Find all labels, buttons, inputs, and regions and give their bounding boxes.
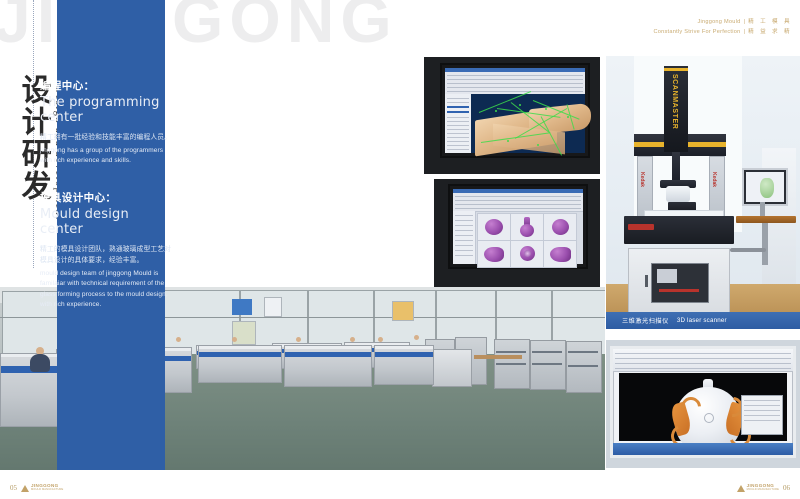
block-1-heading-cn: 编程中心： (40, 78, 172, 93)
footer-left: 05 JINGGONG MOULD MANUFACTURE (10, 484, 63, 492)
block-2-heading-cn: 模具设计中心： (40, 190, 172, 205)
footer-logo-text: JINGGONG MOULD MANUFACTURE (31, 484, 63, 492)
panel-text-layer: 编程中心： The programming center 精工拥有一批经验和技能… (0, 0, 800, 499)
block-1-heading-en: The programming center (40, 95, 172, 126)
page-number-left: 05 (10, 484, 17, 492)
block-mould-design-center: 模具设计中心： Mould design center 精工的模具设计团队，熟通… (40, 190, 172, 314)
block-programming-center: 编程中心： The programming center 精工拥有一批经验和技能… (40, 78, 172, 170)
footer-logo-sub: MOULD MANUFACTURE (747, 489, 779, 492)
block-2-heading-en: Mould design center (40, 207, 172, 238)
triangle-logo-icon (21, 485, 29, 492)
footer-strip (0, 470, 800, 499)
block-2-body-en: mould design team of jinggong Mould is f… (40, 269, 172, 311)
block-1-body-en: jinggong has a group of the programmers … (40, 146, 172, 167)
triangle-logo-icon (737, 485, 745, 492)
footer-logo-right: JINGGONG MOULD MANUFACTURE (737, 484, 779, 492)
footer-right: JINGGONG MOULD MANUFACTURE 06 (737, 484, 790, 492)
brochure-page: JINGGONG 设计研发 Design and development Jin… (0, 0, 800, 499)
footer-logo-left: JINGGONG MOULD MANUFACTURE (21, 484, 63, 492)
block-1-body-cn: 精工拥有一批经验和技能丰富的编程人员。 (40, 132, 172, 143)
block-2-body-cn: 精工的模具设计团队，熟通玻璃成型工艺对模具设计的具体要求，经验丰富。 (40, 244, 172, 266)
footer-logo-text: JINGGONG MOULD MANUFACTURE (747, 484, 779, 492)
page-number-right: 06 (783, 484, 790, 492)
footer-logo-sub: MOULD MANUFACTURE (31, 489, 63, 492)
